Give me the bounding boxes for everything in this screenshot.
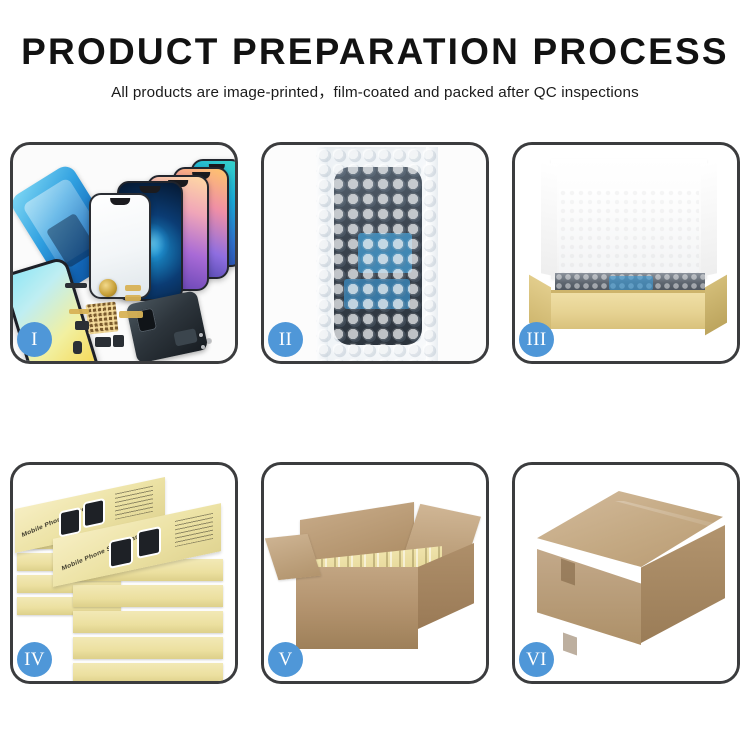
flex-cable-part-4 bbox=[119, 311, 143, 318]
carton-front-face bbox=[296, 567, 418, 649]
page-subtitle: All products are image-printed，film-coat… bbox=[0, 71, 750, 102]
process-step-panel-3[interactable]: III bbox=[512, 142, 740, 364]
box-brand-label: Mobile Phone Spare Parts bbox=[61, 531, 144, 572]
screw-1 bbox=[199, 333, 203, 337]
box-spec-lines-a bbox=[115, 486, 153, 520]
retail-box-r4 bbox=[73, 637, 223, 659]
box-window-a1 bbox=[61, 509, 79, 535]
process-step-panel-6[interactable]: VI bbox=[512, 462, 740, 684]
camera-module-part bbox=[95, 337, 111, 347]
process-step-panel-1[interactable]: I bbox=[10, 142, 238, 364]
step-badge-2: II bbox=[268, 322, 303, 357]
phone-notch bbox=[139, 186, 160, 193]
box-window-b2 bbox=[139, 528, 159, 556]
screw-3 bbox=[201, 345, 205, 349]
phone-notch bbox=[110, 198, 130, 205]
flex-cable-part-1 bbox=[125, 285, 141, 291]
earpiece-mesh-part bbox=[65, 283, 87, 288]
box-window-a2 bbox=[85, 500, 103, 526]
sim-tray-part bbox=[73, 341, 82, 354]
process-step-panel-2[interactable]: II bbox=[261, 142, 489, 364]
retail-box-r5 bbox=[73, 663, 223, 681]
step-badge-3: III bbox=[519, 322, 554, 357]
step-badge-4: IV bbox=[17, 642, 52, 677]
retail-box-r2 bbox=[73, 585, 223, 607]
bubble-wrap-bag bbox=[316, 147, 438, 361]
retail-box-r3 bbox=[73, 611, 223, 633]
page-title: PRODUCT PREPARATION PROCESS bbox=[0, 0, 750, 71]
step-badge-5: V bbox=[268, 642, 303, 677]
process-step-panel-4[interactable]: Mobile Phone Spare Parts Mobile Phone Sp… bbox=[10, 462, 238, 684]
carton-tape-mark-top bbox=[561, 558, 575, 585]
screw-2 bbox=[207, 339, 211, 343]
mailer-box-front bbox=[543, 293, 713, 329]
flex-cable-part-3 bbox=[69, 309, 89, 314]
bubble-highlight-layer bbox=[316, 147, 438, 361]
small-component-part bbox=[75, 321, 89, 330]
page-header: PRODUCT PREPARATION PROCESS All products… bbox=[0, 0, 750, 102]
process-step-panel-5[interactable]: V bbox=[261, 462, 489, 684]
foam-liner bbox=[559, 189, 699, 275]
box-spec-lines-b bbox=[175, 513, 213, 547]
box-window-b1 bbox=[111, 538, 131, 566]
step-badge-6: VI bbox=[519, 642, 554, 677]
screw-tray-grid bbox=[86, 302, 119, 335]
flex-cable-part-2 bbox=[125, 295, 141, 301]
step-badge-1: I bbox=[17, 322, 52, 357]
speaker-part bbox=[113, 335, 124, 347]
process-step-grid: I II III bbox=[10, 142, 740, 684]
tempered-glass-panel bbox=[89, 193, 151, 299]
wireless-charging-coil bbox=[99, 279, 117, 297]
